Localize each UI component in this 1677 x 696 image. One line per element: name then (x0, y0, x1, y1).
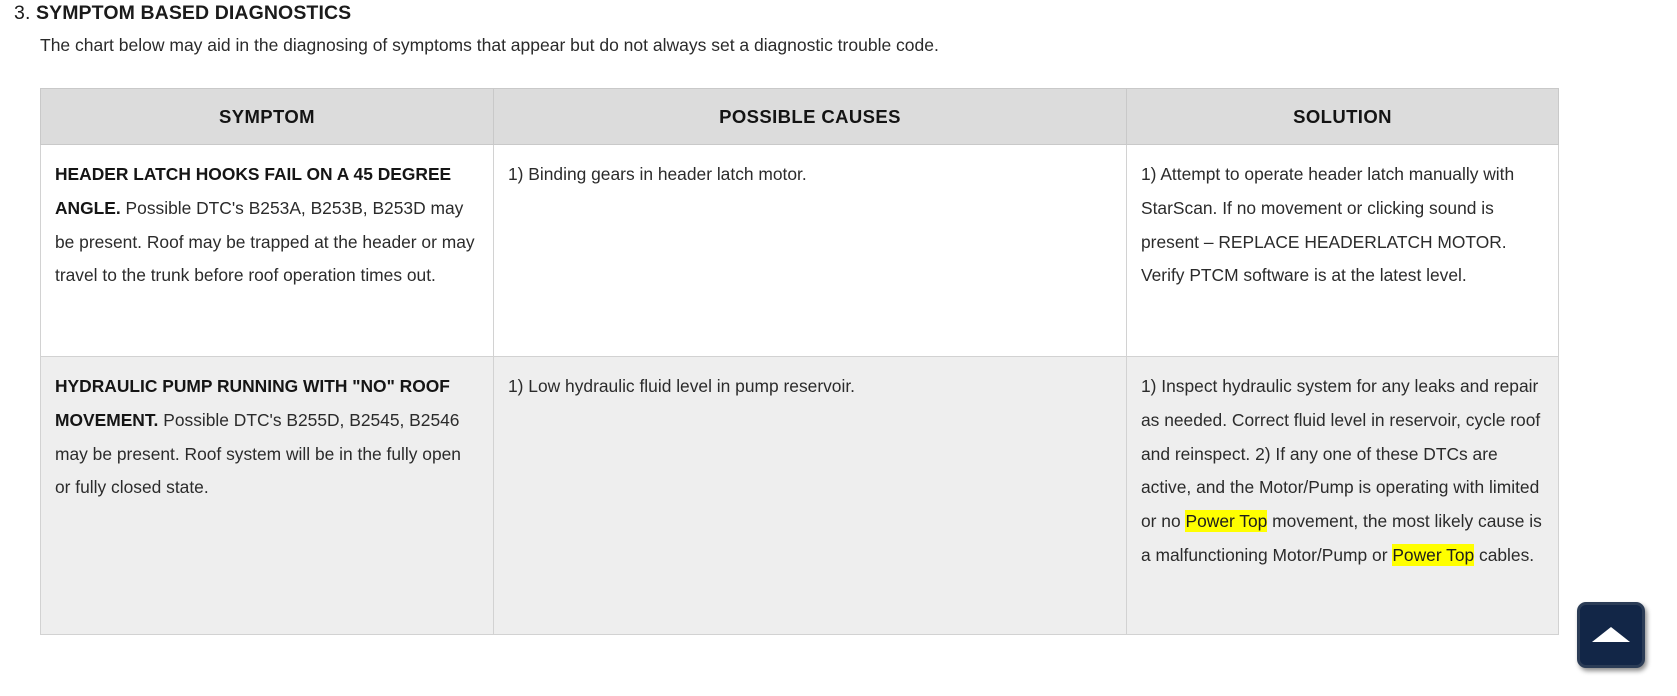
cell-symptom: HEADER LATCH HOOKS FAIL ON A 45 DEGREE A… (41, 145, 494, 357)
cause-text: 1) Low hydraulic fluid level in pump res… (508, 376, 855, 396)
symptom-diagnostics-table: SYMPTOM POSSIBLE CAUSES SOLUTION HEADER … (40, 88, 1559, 635)
table-row: HYDRAULIC PUMP RUNNING WITH "NO" ROOF MO… (41, 357, 1559, 635)
cell-possible-causes: 1) Binding gears in header latch motor. (494, 145, 1127, 357)
table-body: HEADER LATCH HOOKS FAIL ON A 45 DEGREE A… (41, 145, 1559, 635)
column-header-causes: POSSIBLE CAUSES (494, 89, 1127, 145)
highlighted-term-power-top: Power Top (1185, 510, 1267, 532)
column-header-solution: SOLUTION (1127, 89, 1559, 145)
solution-text-end: cables. (1474, 545, 1534, 565)
table-row: HEADER LATCH HOOKS FAIL ON A 45 DEGREE A… (41, 145, 1559, 357)
table-header-row: SYMPTOM POSSIBLE CAUSES SOLUTION (41, 89, 1559, 145)
section-intro-text: The chart below may aid in the diagnosin… (40, 35, 939, 56)
solution-text: 1) Attempt to operate header latch manua… (1141, 164, 1514, 285)
highlighted-term-power-top: Power Top (1392, 544, 1474, 566)
section-number: 3. (14, 2, 30, 24)
cell-possible-causes: 1) Low hydraulic fluid level in pump res… (494, 357, 1127, 635)
solution-text: 1) Inspect hydraulic system for any leak… (1141, 376, 1540, 531)
column-header-symptom: SYMPTOM (41, 89, 494, 145)
page-title: SYMPTOM BASED DIAGNOSTICS (36, 2, 351, 24)
cell-symptom: HYDRAULIC PUMP RUNNING WITH "NO" ROOF MO… (41, 357, 494, 635)
triangle-up-icon (1592, 627, 1630, 642)
diagnostics-table-container: SYMPTOM POSSIBLE CAUSES SOLUTION HEADER … (40, 88, 1558, 635)
section-heading: 3. SYMPTOM BASED DIAGNOSTICS (14, 2, 351, 25)
table-header: SYMPTOM POSSIBLE CAUSES SOLUTION (41, 89, 1559, 145)
cell-solution: 1) Attempt to operate header latch manua… (1127, 145, 1559, 357)
cause-text: 1) Binding gears in header latch motor. (508, 164, 807, 184)
cell-solution: 1) Inspect hydraulic system for any leak… (1127, 357, 1559, 635)
scroll-to-top-button[interactable] (1577, 602, 1645, 668)
